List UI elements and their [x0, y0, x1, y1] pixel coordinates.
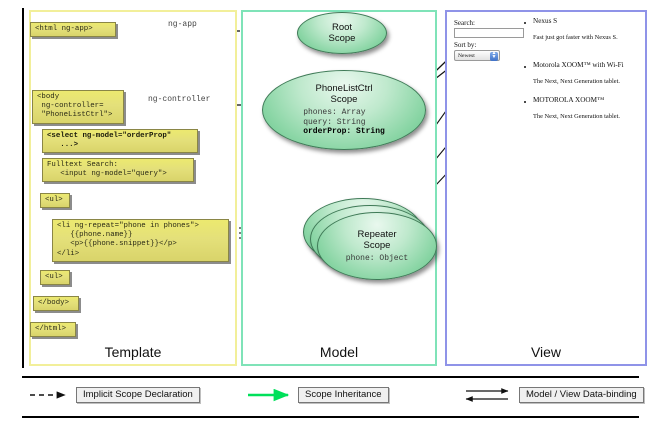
phone-snippet: The Next, Next Generation tablet. — [533, 78, 620, 85]
edge-label-ng-app: ng-app — [166, 20, 199, 29]
scope-property-query: query: String — [303, 118, 385, 128]
scope-repeater[interactable]: Repeater Scope phone: Object — [317, 212, 437, 280]
legend-bottom-rule — [22, 416, 639, 418]
scope-root-title-2: Scope — [329, 33, 356, 44]
sort-by-label: Sort by: — [454, 41, 476, 49]
panel-template: Template — [29, 10, 237, 366]
scope-phonelistctrl-title-1: PhoneListCtrl — [315, 83, 372, 94]
scope-property-phones: phones: Array — [303, 108, 385, 118]
panel-model: Model — [241, 10, 437, 366]
scope-property-orderprop: orderProp: String — [303, 127, 385, 137]
panel-view-label: View — [447, 344, 645, 360]
phone-snippet: The Next, Next Generation tablet. — [533, 113, 620, 120]
search-label: Search: — [454, 19, 475, 27]
panel-model-label: Model — [243, 344, 435, 360]
scope-phonelistctrl-title-2: Scope — [331, 94, 358, 105]
phone-name[interactable]: Motorola XOOM™ with Wi-Fi — [533, 61, 624, 69]
legend-item-scope-inheritance: Scope Inheritance — [298, 387, 389, 403]
code-box-fulltext-search[interactable]: Fulltext Search: <input ng-model="query"… — [42, 158, 194, 182]
scope-root-title-1: Root — [332, 22, 352, 33]
phone-name[interactable]: MOTOROLA XOOM™ — [533, 96, 604, 104]
sort-by-select[interactable]: Newest ▲▼ — [454, 50, 500, 61]
sort-by-selected-value: Newest — [458, 53, 475, 59]
code-box-ul-close[interactable]: <ul> — [40, 270, 70, 285]
code-box-body-open[interactable]: <body ng-controller= "PhoneListCtrl"> — [32, 90, 124, 124]
angular-scope-diagram: Template <html ng-app> <body ng-controll… — [0, 0, 661, 425]
phone-name[interactable]: Nexus S — [533, 17, 557, 25]
scope-repeater-title-2: Scope — [364, 240, 391, 251]
scope-repeater-properties: phone: Object — [346, 254, 408, 264]
scope-property-phone: phone: Object — [346, 254, 408, 264]
legend-item-model-view-data-binding: Model / View Data-binding — [519, 387, 644, 403]
stepper-icon: ▲▼ — [490, 52, 498, 61]
code-box-html-close[interactable]: </html> — [30, 322, 76, 337]
code-box-select[interactable]: <select ng-model="orderProp" ...> — [42, 129, 198, 153]
code-box-li-ng-repeat[interactable]: <li ng-repeat="phone in phones"> {{phone… — [52, 219, 229, 262]
edge-label-ng-controller: ng-controller — [146, 95, 212, 104]
legend-top-rule — [22, 376, 639, 378]
legend-item-implicit-scope-declaration: Implicit Scope Declaration — [76, 387, 200, 403]
code-box-html-open[interactable]: <html ng-app> — [30, 22, 116, 37]
code-box-body-close[interactable]: </body> — [33, 296, 79, 311]
scope-repeater-title-1: Repeater — [357, 229, 396, 240]
panel-template-label: Template — [31, 344, 235, 360]
phone-snippet: Fast just got faster with Nexus S. — [533, 34, 618, 41]
search-input[interactable] — [454, 28, 524, 38]
scope-phonelistctrl[interactable]: PhoneListCtrl Scope phones: Array query:… — [262, 70, 426, 150]
scope-root[interactable]: Root Scope — [297, 12, 387, 54]
code-box-ul-open[interactable]: <ul> — [40, 193, 70, 208]
figure-left-rule — [22, 8, 24, 368]
scope-phonelistctrl-properties: phones: Array query: String orderProp: S… — [303, 108, 385, 137]
